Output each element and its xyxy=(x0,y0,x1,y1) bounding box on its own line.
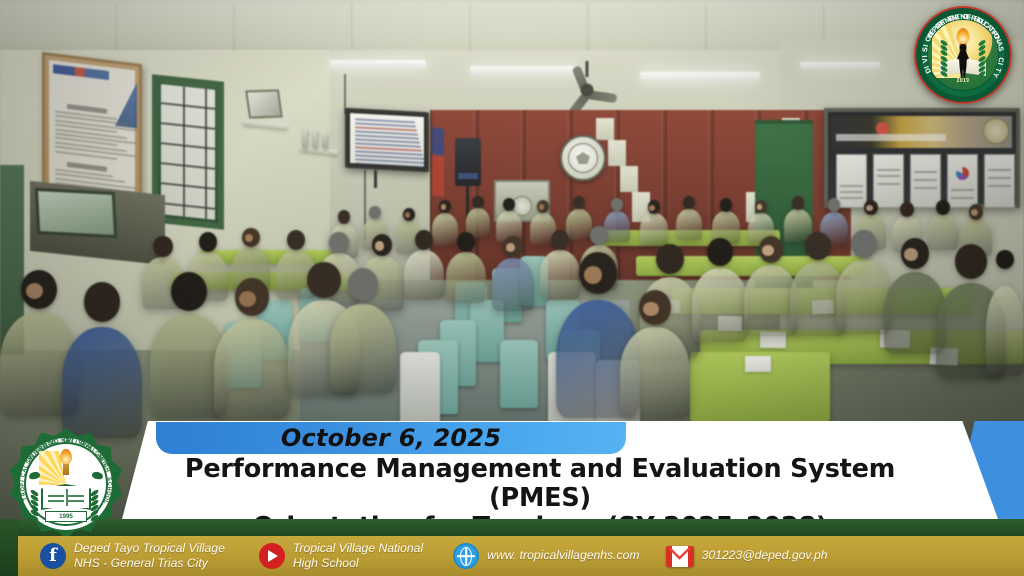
ceiling-tile xyxy=(354,4,470,56)
youtube-line-2: High School xyxy=(293,556,423,571)
event-poster: 2019 DIVISION OF GENERAL TRIAS CITY DEPA… xyxy=(0,0,1024,576)
seal-char: C xyxy=(21,473,28,478)
ceiling-tile xyxy=(118,4,234,56)
email-address: 301223@deped.gov.ph xyxy=(702,548,828,563)
ceiling-tile xyxy=(236,4,352,56)
person-head xyxy=(415,230,433,250)
seated-person xyxy=(604,211,630,242)
ceiling-light xyxy=(470,66,580,75)
person-head xyxy=(329,232,348,253)
date-banner: October 6, 2025 xyxy=(156,422,626,454)
person-face xyxy=(762,245,774,256)
person-head xyxy=(472,196,483,208)
seated-person xyxy=(566,209,592,240)
person-head xyxy=(900,202,914,217)
youtube-icon[interactable] xyxy=(259,543,285,569)
event-date: October 6, 2025 xyxy=(281,424,501,452)
person-head xyxy=(551,230,569,250)
person-head xyxy=(683,196,695,209)
seal-char: P xyxy=(20,483,26,487)
school-year-ribbon: 1995 xyxy=(45,511,87,522)
person-head xyxy=(590,226,607,245)
monobloc-chair xyxy=(500,340,538,408)
seated-person xyxy=(404,250,444,299)
person-head xyxy=(307,262,340,298)
ceiling-light xyxy=(800,62,880,69)
kpi-bulletin-board xyxy=(824,108,1020,208)
person-head xyxy=(656,244,684,274)
person-head xyxy=(153,236,172,257)
gmail-icon[interactable] xyxy=(666,546,694,567)
seated-person xyxy=(492,258,534,311)
seal-bottom-text: DEPARTMENT OF EDUCATION xyxy=(914,6,1012,104)
event-title-line-1: Performance Management and Evaluation Sy… xyxy=(140,455,940,513)
shelf-item xyxy=(322,132,327,149)
person-head xyxy=(828,198,841,212)
speaker-box xyxy=(455,138,481,186)
person-face xyxy=(539,204,545,209)
seated-person xyxy=(62,327,142,438)
person-face xyxy=(506,243,515,252)
philippine-flag xyxy=(432,127,444,197)
person-head xyxy=(348,268,378,301)
person-face xyxy=(584,266,603,284)
person-head xyxy=(805,232,831,260)
person-head xyxy=(720,198,733,212)
person-face xyxy=(866,205,873,211)
person-head xyxy=(84,282,121,322)
seated-person xyxy=(330,304,396,393)
presentation-screen xyxy=(345,108,429,172)
seated-person xyxy=(640,213,668,246)
person-face xyxy=(971,209,978,216)
stage-accent xyxy=(620,166,638,192)
person-face xyxy=(239,291,256,307)
stage-seal xyxy=(560,135,606,181)
seated-person xyxy=(446,252,486,302)
person-head xyxy=(792,196,805,210)
seated-person xyxy=(986,286,1024,375)
person-head xyxy=(611,198,623,211)
person-head xyxy=(955,244,987,279)
facebook-line-2: NHS - General Trias City xyxy=(74,556,225,571)
website-url: www. tropicalvillagenhs.com xyxy=(487,548,639,563)
person-face xyxy=(375,241,385,250)
ceiling-light xyxy=(640,72,760,81)
seated-person xyxy=(928,214,958,250)
person-head xyxy=(707,238,733,266)
footer-item-facebook[interactable]: f Deped Tayo Tropical Village NHS - Gene… xyxy=(40,541,225,572)
shelf-item xyxy=(312,130,317,149)
ceiling-tile xyxy=(0,4,116,56)
person-face xyxy=(757,204,763,209)
person-head xyxy=(199,232,217,252)
person-face xyxy=(649,205,655,211)
seal-char: S xyxy=(105,477,112,482)
stage-accent xyxy=(596,118,614,140)
shelf-item xyxy=(302,128,307,149)
person-face xyxy=(441,204,447,209)
screen-stand xyxy=(374,170,377,188)
seated-person xyxy=(620,327,690,419)
person-head xyxy=(996,250,1013,269)
facebook-icon[interactable]: f xyxy=(40,543,66,569)
footer-item-email[interactable]: 301223@deped.gov.ph xyxy=(666,546,828,567)
person-head xyxy=(503,198,515,211)
school-logo: 1995 TROPICAL VILLAGE NATIONAL HIGH SCHO… xyxy=(10,428,122,540)
seated-person xyxy=(540,250,580,299)
stage-accent xyxy=(608,140,626,166)
person-head xyxy=(338,210,351,224)
contact-footer: f Deped Tayo Tropical Village NHS - Gene… xyxy=(0,536,1024,576)
ceiling-tile xyxy=(590,4,706,56)
document-paper xyxy=(745,356,771,372)
framed-certificate xyxy=(35,188,117,238)
footer-item-website[interactable]: www. tropicalvillagenhs.com xyxy=(453,543,639,569)
person-head xyxy=(851,230,877,258)
person-head xyxy=(573,196,585,209)
deped-division-seal: 2019 DIVISION OF GENERAL TRIAS CITY DEPA… xyxy=(914,6,1012,104)
seal-char: I xyxy=(20,480,26,482)
seal-char xyxy=(959,13,962,21)
youtube-line-1: Tropical Village National xyxy=(293,541,423,556)
ceiling-fan xyxy=(556,75,618,105)
facebook-line-1: Deped Tayo Tropical Village xyxy=(74,541,225,556)
person-head xyxy=(936,200,950,215)
ceiling-light xyxy=(330,60,426,69)
seated-person xyxy=(692,268,748,342)
monobloc-chair xyxy=(400,352,440,424)
wall-frame xyxy=(245,89,283,118)
person-head xyxy=(457,232,475,252)
seal-char: C xyxy=(106,482,112,486)
ceiling-tile xyxy=(472,4,588,56)
person-face xyxy=(405,212,411,217)
seated-person xyxy=(214,319,290,420)
footer-left-edge xyxy=(0,519,18,576)
seated-person xyxy=(432,213,458,246)
person-head xyxy=(287,230,305,250)
globe-icon[interactable] xyxy=(453,543,479,569)
person-head xyxy=(171,272,207,311)
seated-person xyxy=(676,209,702,240)
person-head xyxy=(369,206,381,219)
footer-item-youtube[interactable]: Tropical Village National High School xyxy=(259,541,423,572)
person-face xyxy=(643,302,658,317)
